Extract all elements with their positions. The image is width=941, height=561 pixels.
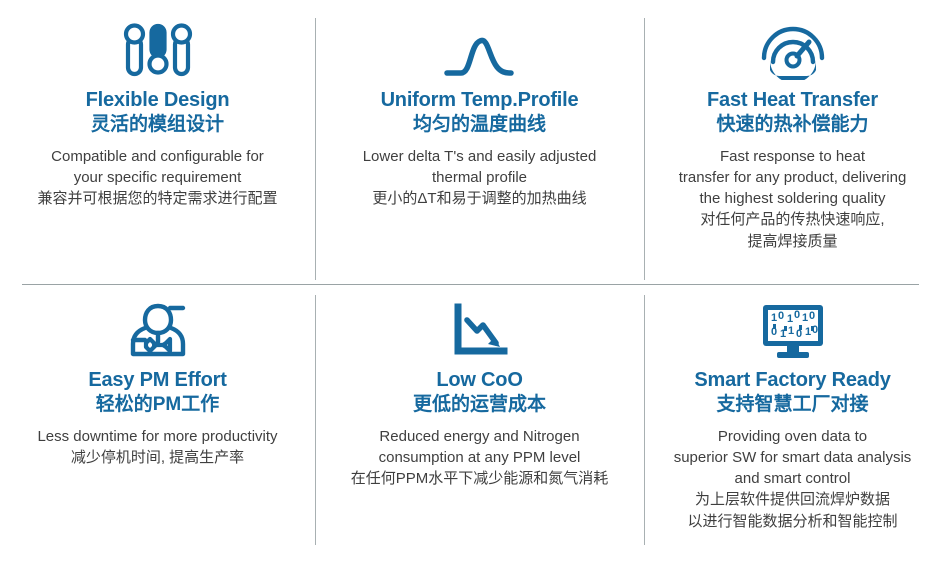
feature-body-line: Compatible and configurable for <box>14 146 301 167</box>
feature-body-line-cn: 以进行智能数据分析和智能控制 <box>658 511 927 533</box>
feature-body-line-cn: 为上层软件提供回流焊炉数据 <box>658 489 927 511</box>
feature-title-cn: 快速的热补偿能力 <box>658 113 927 137</box>
feature-body-line-cn: 减少停机时间, 提高生产率 <box>14 447 301 469</box>
binary-monitor-icon: 1 0 1 0 1 0 0 1 1 0 1 0 <box>658 280 927 368</box>
svg-text:0: 0 <box>794 309 800 321</box>
feature-title-en: Smart Factory Ready <box>658 368 927 393</box>
feature-body-line: Reduced energy and Nitrogen <box>329 426 630 447</box>
technician-wrench-icon <box>14 280 301 368</box>
feature-body-line: and smart control <box>658 468 927 489</box>
feature-card-smart-factory-ready: 1 0 1 0 1 0 0 1 1 0 1 0 <box>644 280 941 561</box>
feature-card-uniform-temp-profile: Uniform Temp.Profile 均匀的温度曲线 Lower delta… <box>315 0 644 280</box>
feature-body-line-cn: 对任何产品的传热快速响应, <box>658 209 927 231</box>
feature-body-line: your specific requirement <box>14 167 301 188</box>
feature-body-line: Providing oven data to <box>658 426 927 447</box>
feature-title-cn: 支持智慧工厂对接 <box>658 393 927 417</box>
svg-text:1: 1 <box>805 326 811 338</box>
gauge-icon <box>658 0 927 88</box>
declining-chart-icon <box>329 280 630 368</box>
svg-text:1: 1 <box>787 313 793 325</box>
feature-title-en: Low CoO <box>329 368 630 393</box>
feature-title-cn: 更低的运营成本 <box>329 393 630 417</box>
feature-body-line: the highest soldering quality <box>658 188 927 209</box>
feature-title-en: Fast Heat Transfer <box>658 88 927 113</box>
feature-title-cn: 均匀的温度曲线 <box>329 113 630 137</box>
feature-card-flexible-design: Flexible Design 灵活的模组设计 Compatible and c… <box>0 0 315 280</box>
svg-text:1: 1 <box>771 312 777 324</box>
feature-body-line: transfer for any product, delivering <box>658 167 927 188</box>
feature-body-line: superior SW for smart data analysis <box>658 447 927 468</box>
svg-text:1: 1 <box>802 312 808 324</box>
feature-body-line-cn: 兼容并可根据您的特定需求进行配置 <box>14 188 301 210</box>
temperature-curve-icon <box>329 0 630 88</box>
feature-card-fast-heat-transfer: Fast Heat Transfer 快速的热补偿能力 Fast respons… <box>644 0 941 280</box>
feature-row-top: Flexible Design 灵活的模组设计 Compatible and c… <box>0 0 941 280</box>
svg-text:0: 0 <box>809 310 815 322</box>
feature-grid: Flexible Design 灵活的模组设计 Compatible and c… <box>0 0 941 561</box>
feature-card-low-coo: Low CoO 更低的运营成本 Reduced energy and Nitro… <box>315 280 644 561</box>
feature-body-line: Lower delta T's and easily adjusted <box>329 146 630 167</box>
feature-body-line-cn: 提高焊接质量 <box>658 231 927 253</box>
feature-title-cn: 灵活的模组设计 <box>14 113 301 137</box>
feature-title-cn: 轻松的PM工作 <box>14 393 301 417</box>
feature-card-easy-pm-effort: Easy PM Effort 轻松的PM工作 Less downtime for… <box>0 280 315 561</box>
feature-row-bottom: Easy PM Effort 轻松的PM工作 Less downtime for… <box>0 280 941 561</box>
feature-body-line: Fast response to heat <box>658 146 927 167</box>
feature-title-en: Easy PM Effort <box>14 368 301 393</box>
feature-body-line: consumption at any PPM level <box>329 447 630 468</box>
svg-text:0: 0 <box>778 310 784 322</box>
feature-body-line-cn: 在任何PPM水平下减少能源和氮气消耗 <box>329 468 630 490</box>
feature-title-en: Flexible Design <box>14 88 301 113</box>
feature-body-line: thermal profile <box>329 167 630 188</box>
svg-text:1: 1 <box>788 325 794 337</box>
feature-body-line: Less downtime for more productivity <box>14 426 301 447</box>
feature-title-en: Uniform Temp.Profile <box>329 88 630 113</box>
feature-body-line-cn: 更小的ΔT和易于调整的加热曲线 <box>329 188 630 210</box>
sliders-icon <box>14 0 301 88</box>
